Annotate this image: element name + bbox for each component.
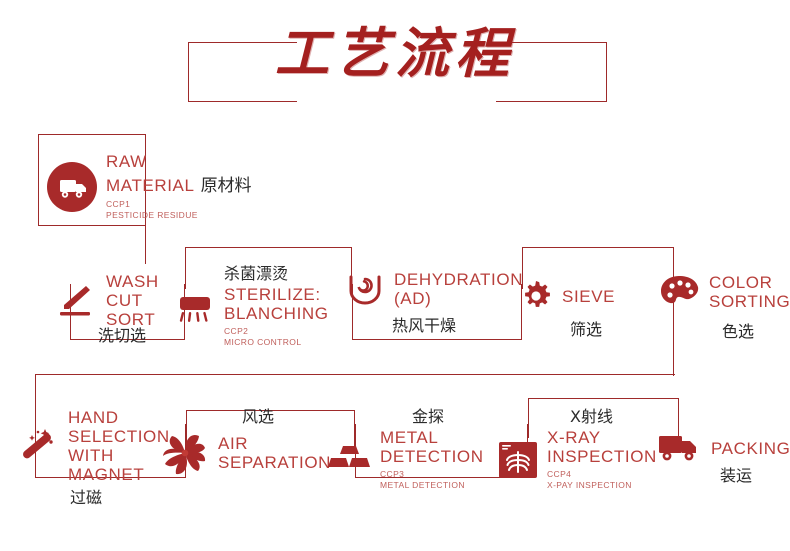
step-metal-detection-labels: METAL DETECTION CCP3 METAL DETECTION	[380, 428, 484, 491]
color-sorting-en-line2: SORTING	[709, 292, 790, 311]
connector-row2-to-row3-sweep	[35, 374, 675, 375]
step-xray-inspection[interactable]: X-RAY INSPECTION CCP4 X-PAY INSPECTION	[497, 428, 657, 491]
step-packing[interactable]: PACKING	[657, 430, 790, 466]
raw-material-en-line2: MATERIAL	[106, 176, 195, 195]
truck-circle-icon	[46, 161, 98, 213]
step-dehydration-labels: DEHYDRATION (AD)	[394, 270, 523, 308]
xray-ccp-detail: X-PAY INSPECTION	[547, 480, 657, 491]
dehydration-en-line1: DEHYDRATION	[394, 270, 523, 289]
wash-cut-sort-en: WASH CUT SORT	[106, 272, 159, 329]
step-hand-selection-labels: HAND SELECTION WITH MAGNET	[68, 408, 170, 484]
hand-selection-cn: 过磁	[70, 484, 102, 508]
raw-material-ccp-detail: PESTICIDE RESIDUE	[106, 210, 252, 221]
dehydration-cn: 热风干燥	[392, 312, 456, 336]
truck-icon	[657, 430, 703, 466]
xray-cn: X射线	[570, 403, 613, 427]
sterilize-ccp: CCP2	[224, 326, 329, 337]
magic-wand-magnet-icon	[14, 423, 60, 469]
knife-cutting-board-icon	[52, 278, 98, 324]
raw-material-en-line1: RAW	[106, 152, 252, 171]
metal-detection-ccp-detail: METAL DETECTION	[380, 480, 484, 491]
color-sorting-en-line1: COLOR	[709, 273, 790, 292]
xray-en-line1: X-RAY	[547, 428, 657, 447]
blanching-spray-icon	[174, 285, 216, 327]
palette-icon	[659, 272, 701, 312]
step-dehydration[interactable]: DEHYDRATION (AD)	[344, 268, 523, 310]
sterilize-ccp-detail: MICRO CONTROL	[224, 337, 329, 348]
step-sieve-labels: SIEVE	[562, 287, 615, 306]
step-air-separation-labels: AIR SEPARATION	[218, 434, 331, 472]
sieve-cn: 筛选	[570, 316, 602, 340]
sieve-en: SIEVE	[562, 287, 615, 306]
step-metal-detection[interactable]: METAL DETECTION CCP3 METAL DETECTION	[328, 428, 484, 491]
step-raw-material-labels: RAW MATERIAL 原材料 CCP1 PESTICIDE RESIDUE	[106, 152, 252, 221]
metal-detection-en-line1: METAL	[380, 428, 484, 447]
step-sterilize-blanching[interactable]: 杀菌漂烫 STERILIZE: BLANCHING CCP2 MICRO CON…	[174, 264, 329, 348]
xray-en-line2: INSPECTION	[547, 447, 657, 466]
step-xray-labels: X-RAY INSPECTION CCP4 X-PAY INSPECTION	[547, 428, 657, 491]
gear-icon	[518, 278, 554, 314]
step-wash-cut-sort[interactable]: WASH CUT SORT	[52, 272, 159, 329]
metal-detection-ccp: CCP3	[380, 469, 484, 480]
step-sterilize-labels: 杀菌漂烫 STERILIZE: BLANCHING CCP2 MICRO CON…	[224, 264, 329, 348]
hand-selection-en: HAND SELECTION WITH MAGNET	[68, 408, 170, 484]
air-separation-en-line1: AIR	[218, 434, 331, 453]
step-color-sorting-labels: COLOR SORTING	[709, 273, 790, 311]
metal-detection-en-line2: DETECTION	[380, 447, 484, 466]
raw-material-ccp: CCP1	[106, 199, 252, 210]
air-separation-en-line2: SEPARATION	[218, 453, 331, 472]
process-flow-infographic: 工艺流程	[0, 0, 790, 551]
raw-material-cn: 原材料	[201, 171, 252, 196]
sterilize-cn: 杀菌漂烫	[224, 264, 329, 284]
step-raw-material[interactable]: RAW MATERIAL 原材料 CCP1 PESTICIDE RESIDUE	[46, 152, 252, 221]
step-air-separation[interactable]: AIR SEPARATION	[160, 428, 331, 478]
metal-detection-cn: 金探	[412, 403, 444, 427]
packing-en: PACKING	[711, 439, 790, 458]
sterilize-en-line2: BLANCHING	[224, 304, 329, 323]
color-sorting-cn: 色选	[722, 318, 754, 342]
xray-ccp: CCP4	[547, 469, 657, 480]
gold-bars-icon	[328, 440, 372, 480]
xray-ribcage-icon	[497, 439, 539, 481]
step-sieve[interactable]: SIEVE	[518, 278, 615, 314]
step-wash-cut-sort-labels: WASH CUT SORT	[106, 272, 159, 329]
fan-icon	[160, 428, 210, 478]
sterilize-en-line1: STERILIZE:	[224, 285, 329, 304]
air-separation-cn: 风选	[242, 403, 274, 427]
dehydration-en-line2: (AD)	[394, 289, 523, 308]
packing-cn: 装运	[720, 462, 752, 486]
step-hand-selection-magnet[interactable]: HAND SELECTION WITH MAGNET	[14, 408, 170, 484]
step-packing-labels: PACKING	[711, 439, 790, 458]
spiral-dryer-icon	[344, 268, 386, 310]
wash-cut-sort-cn: 洗切选	[98, 322, 146, 346]
step-color-sorting[interactable]: COLOR SORTING	[659, 272, 790, 312]
